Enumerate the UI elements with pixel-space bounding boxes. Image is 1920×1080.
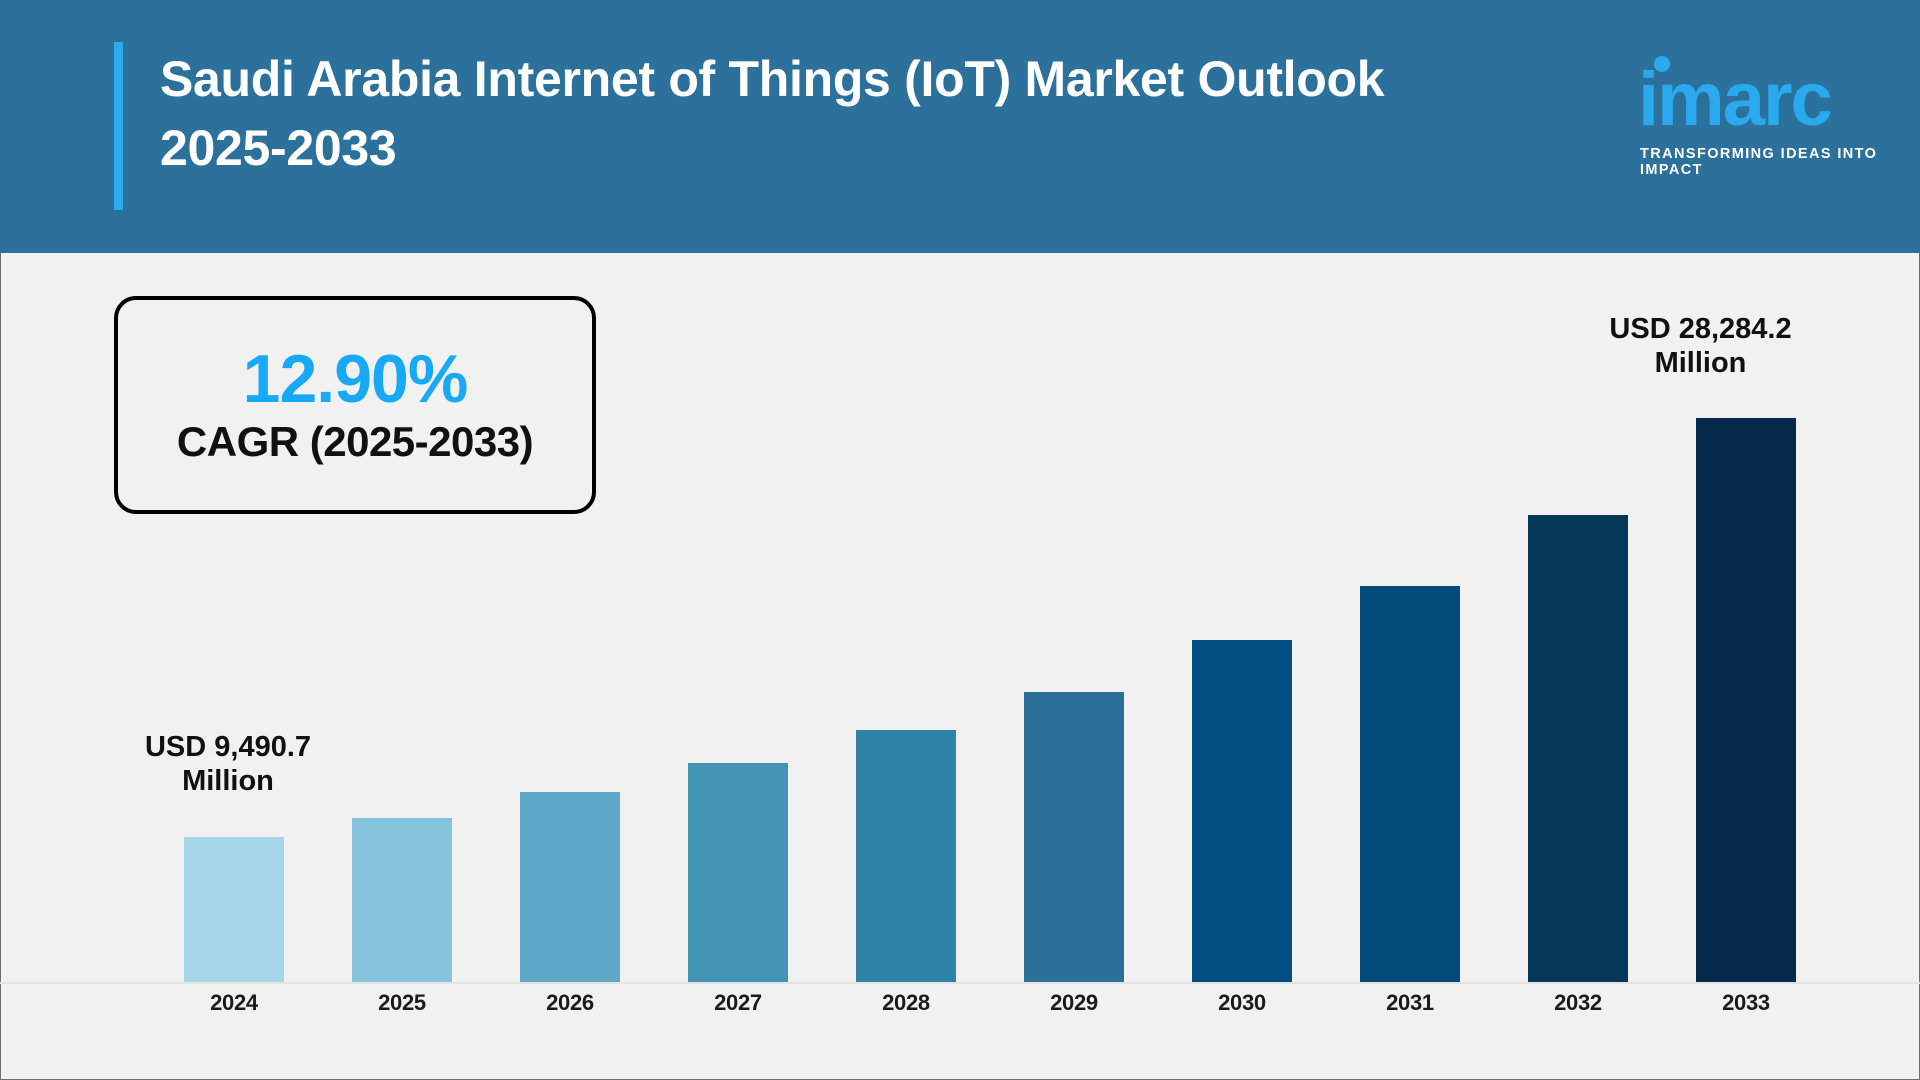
bar-2028 [856,730,956,982]
logo-wordmark: imarc [1638,62,1831,138]
x-axis-label-2031: 2031 [1360,990,1460,1016]
x-axis-label-2025: 2025 [352,990,452,1016]
bar-2024 [184,837,284,982]
infographic-page: Saudi Arabia Internet of Things (IoT) Ma… [0,0,1920,1080]
logo-tagline: TRANSFORMING IDEAS INTO IMPACT [1640,146,1882,178]
page-title: Saudi Arabia Internet of Things (IoT) Ma… [160,45,1480,183]
x-axis-label-2028: 2028 [856,990,956,1016]
bar-2025 [352,818,452,982]
title-accent-bar [114,42,123,210]
bar-2032 [1528,515,1628,982]
bar-2033 [1696,418,1796,982]
x-axis-label-2026: 2026 [520,990,620,1016]
x-axis-label-2029: 2029 [1024,990,1124,1016]
x-axis-label-2033: 2033 [1696,990,1796,1016]
bar-2031 [1360,586,1460,982]
bar-2030 [1192,640,1292,982]
bar-2027 [688,763,788,982]
x-axis-label-2027: 2027 [688,990,788,1016]
header-band: Saudi Arabia Internet of Things (IoT) Ma… [0,0,1920,253]
x-axis-label-2032: 2032 [1528,990,1628,1016]
x-axis-line [0,982,1920,984]
x-axis-label-2024: 2024 [184,990,284,1016]
bar-series [150,340,1830,982]
x-axis-labels: 2024202520262027202820292030203120322033 [150,990,1830,1030]
x-axis-label-2030: 2030 [1192,990,1292,1016]
bar-chart [150,340,1830,982]
bar-2029 [1024,692,1124,982]
imarc-logo: imarc TRANSFORMING IDEAS INTO IMPACT [1614,48,1882,172]
bar-2026 [520,792,620,982]
